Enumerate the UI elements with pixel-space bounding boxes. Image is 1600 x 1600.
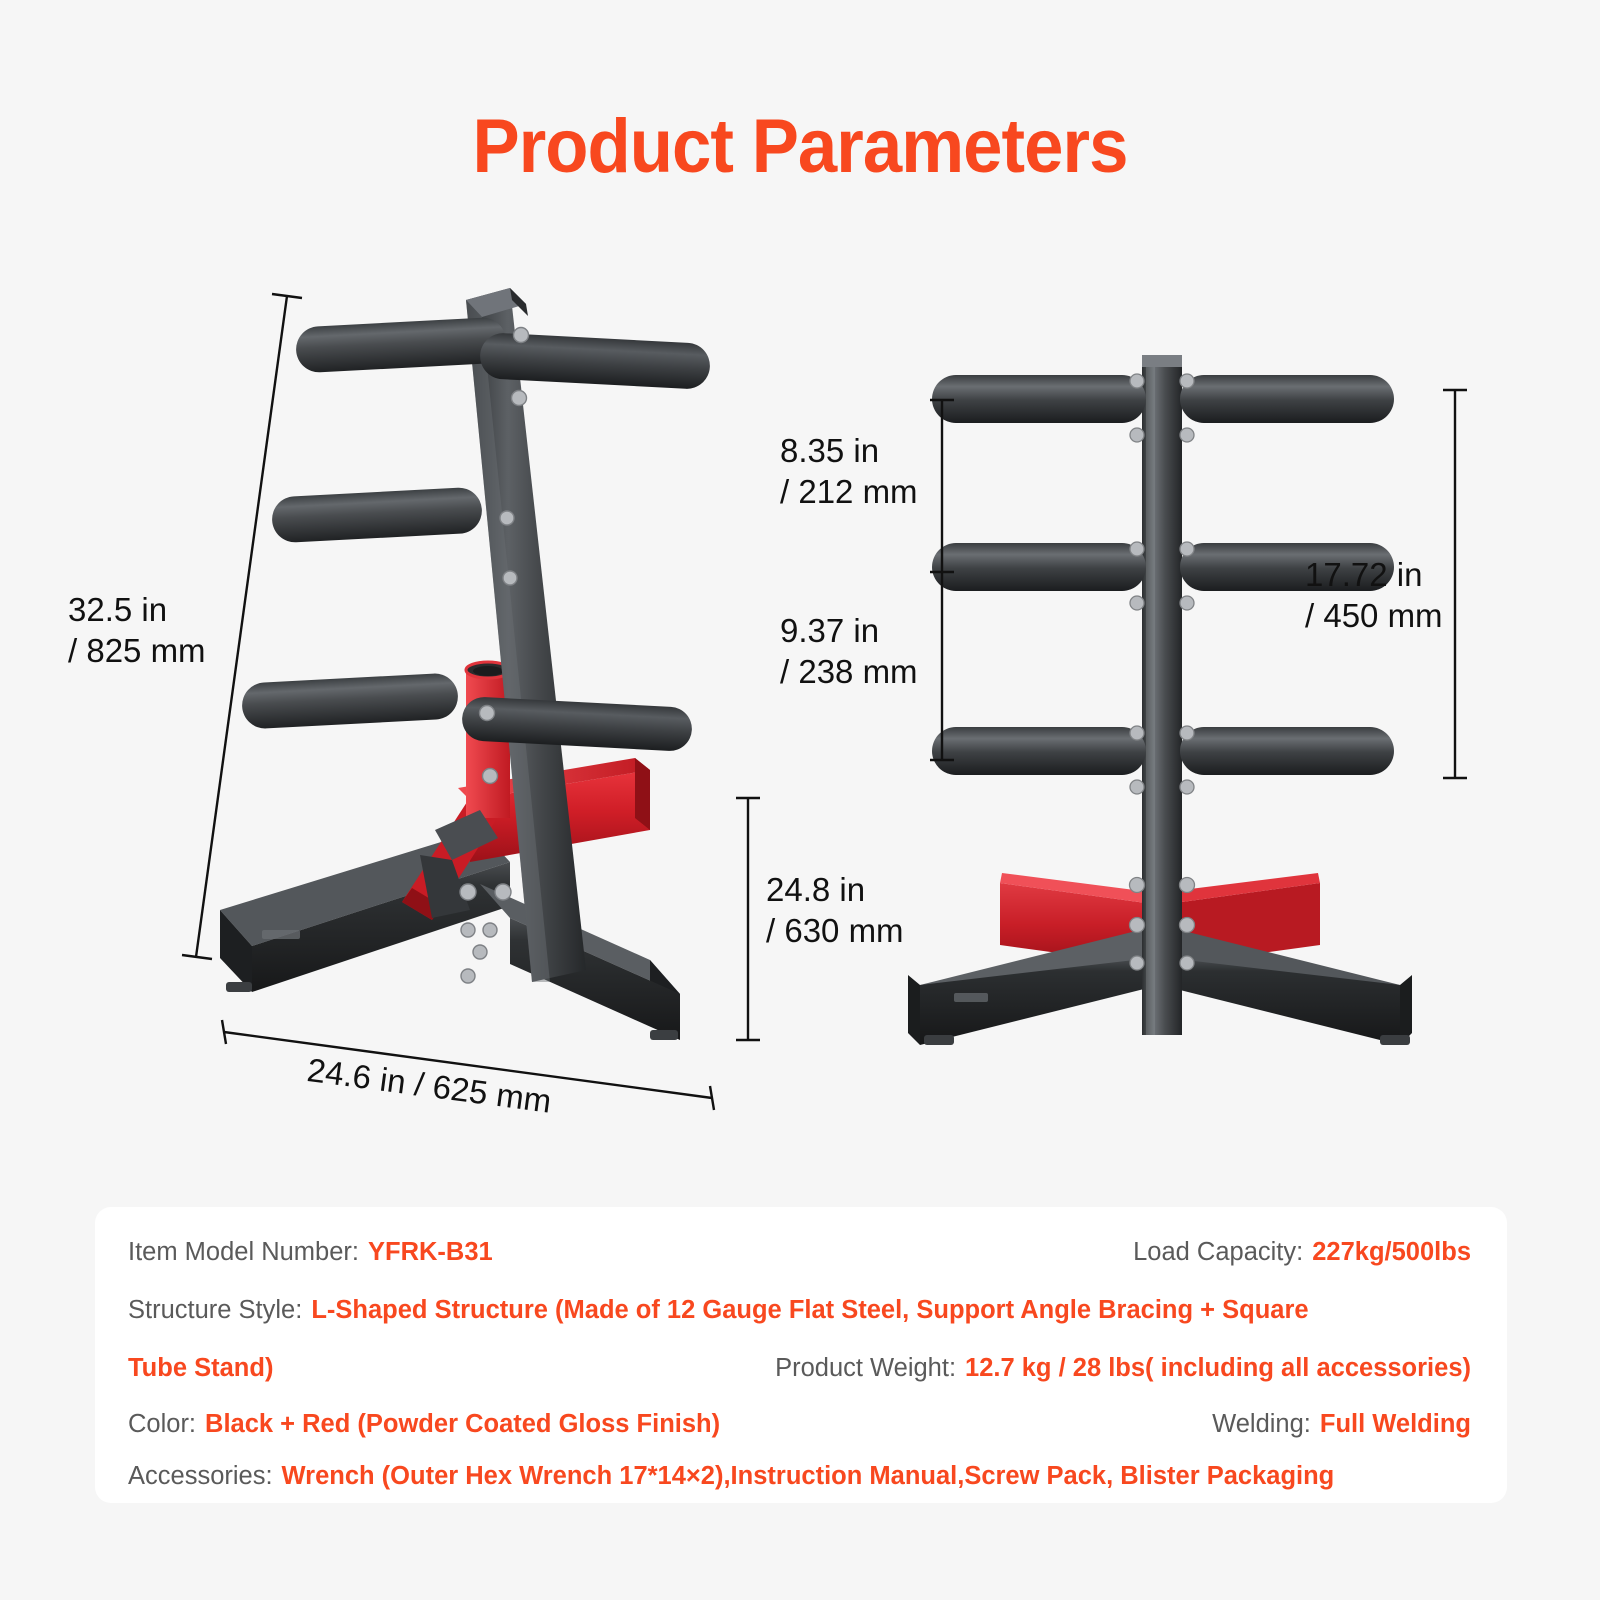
dim-value-inches: 8.35 in — [780, 432, 879, 469]
spec-label: Item Model Number: — [128, 1238, 359, 1267]
spec-value: 227kg/500lbs — [1312, 1238, 1471, 1267]
spec-label: Load Capacity: — [1133, 1238, 1303, 1267]
spec-row-structure: Structure Style: L-Shaped Structure (Mad… — [95, 1283, 1507, 1337]
spec-row-color: Color: Black + Red (Powder Coated Gloss … — [95, 1397, 1507, 1451]
spec-value: Full Welding — [1320, 1410, 1471, 1439]
page-title: Product Parameters — [56, 103, 1544, 190]
dim-value-mm: / 825 mm — [68, 631, 206, 672]
dim-value-mm: / 450 mm — [1305, 596, 1443, 637]
spec-label: Structure Style: — [128, 1296, 302, 1325]
spec-value-continued: Tube Stand) — [128, 1354, 273, 1383]
spec-structure-wrap: Tube Stand) — [128, 1354, 273, 1383]
infographic-page: Product Parameters — [0, 0, 1600, 1600]
spec-accessories: Accessories: Wrench (Outer Hex Wrench 17… — [128, 1462, 1477, 1491]
spec-structure: Structure Style: L-Shaped Structure (Mad… — [128, 1296, 1477, 1325]
spec-value: Wrench (Outer Hex Wrench 17*14×2),Instru… — [282, 1462, 1335, 1491]
spec-color: Color: Black + Red (Powder Coated Gloss … — [128, 1410, 720, 1439]
dim-value-mm: / 630 mm — [766, 911, 904, 952]
spec-weight: Product Weight: 12.7 kg / 28 lbs( includ… — [775, 1354, 1471, 1383]
spec-row-accessories: Accessories: Wrench (Outer Hex Wrench 17… — [95, 1449, 1507, 1503]
spec-value: L-Shaped Structure (Made of 12 Gauge Fla… — [311, 1296, 1308, 1325]
dim-value-mm: / 238 mm — [780, 652, 918, 693]
dimension-lines — [0, 250, 1600, 1180]
spec-value: 12.7 kg / 28 lbs( including all accessor… — [965, 1354, 1471, 1383]
dim-overall-height: 32.5 in / 825 mm — [68, 590, 206, 672]
dim-value-inches: 24.8 in — [766, 871, 865, 908]
spec-label: Product Weight: — [775, 1354, 956, 1383]
spec-value: Black + Red (Powder Coated Gloss Finish) — [205, 1410, 720, 1439]
spec-capacity: Load Capacity: 227kg/500lbs — [1133, 1238, 1471, 1267]
dim-top-peg-spacing: 8.35 in / 212 mm — [780, 431, 918, 513]
dim-value-inches: 9.37 in — [780, 612, 879, 649]
spec-model: Item Model Number: YFRK-B31 — [128, 1238, 493, 1267]
spec-row-model: Item Model Number: YFRK-B31 Load Capacit… — [95, 1225, 1507, 1279]
product-illustration-stage: 32.5 in / 825 mm 8.35 in / 212 mm 9.37 i… — [0, 250, 1600, 1180]
dim-base-to-lower: 24.8 in / 630 mm — [766, 870, 904, 952]
dim-peg-span: 17.72 in / 450 mm — [1305, 555, 1443, 637]
dim-value-inches: 32.5 in — [68, 591, 167, 628]
spec-value: YFRK-B31 — [368, 1238, 493, 1267]
spec-label: Welding: — [1212, 1410, 1311, 1439]
dim-mid-peg-spacing: 9.37 in / 238 mm — [780, 611, 918, 693]
spec-label: Color: — [128, 1410, 196, 1439]
spec-card: Item Model Number: YFRK-B31 Load Capacit… — [95, 1207, 1507, 1503]
dim-value-inches: 17.72 in — [1305, 556, 1422, 593]
spec-row-structure-wrap: Tube Stand) Product Weight: 12.7 kg / 28… — [95, 1341, 1507, 1395]
spec-label: Accessories: — [128, 1462, 273, 1491]
spec-welding: Welding: Full Welding — [1212, 1410, 1471, 1439]
dim-value-mm: / 212 mm — [780, 472, 918, 513]
